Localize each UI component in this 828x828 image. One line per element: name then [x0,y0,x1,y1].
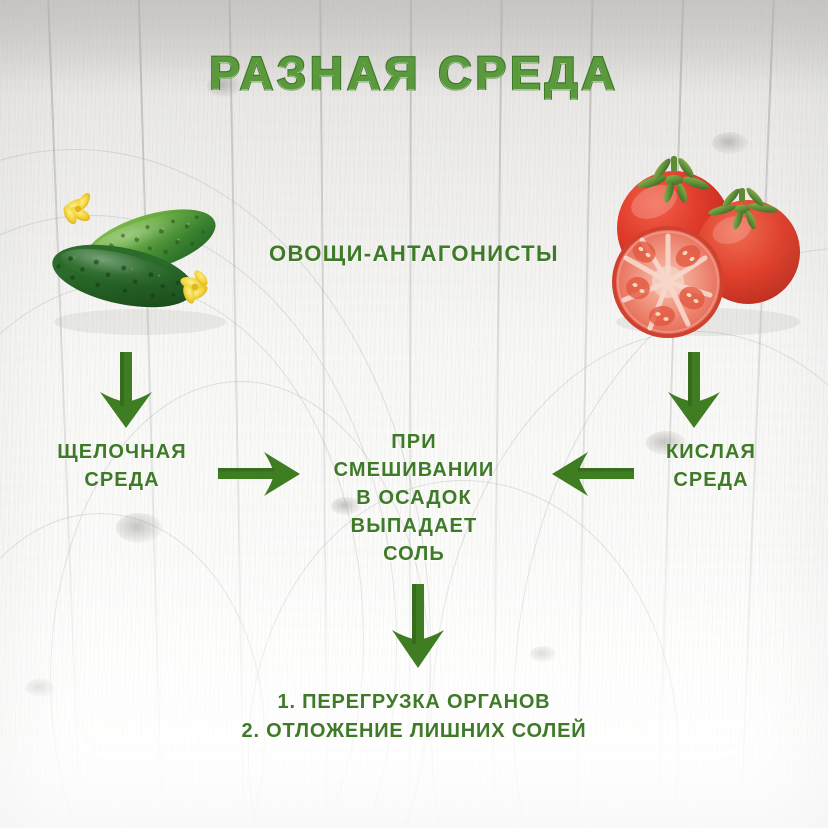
arrow-tomatoes-to-acidic [666,352,722,430]
arrow-center-to-outcomes [390,584,446,670]
outcome-item-2: 2. ОТЛОЖЕНИЕ ЛИШНИХ СОЛЕЙ [0,717,828,746]
center-line-4: ВЫПАДАЕТ [284,512,544,540]
center-line-3: В ОСАДОК [284,484,544,512]
label-alkaline-line-2: СРЕДА [22,466,222,494]
arrow-cucumbers-to-alkaline [98,352,154,430]
center-line-2: СМЕШИВАНИИ [284,456,544,484]
label-alkaline-line-1: ЩЕЛОЧНАЯ [22,438,222,466]
label-acidic-environment: КИСЛАЯ СРЕДА [616,438,806,495]
cucumber-flower-upper [61,191,93,226]
center-line-1: ПРИ [284,428,544,456]
outcomes-list: 1. ПЕРЕГРУЗКА ОРГАНОВ 2. ОТЛОЖЕНИЕ ЛИШНИ… [0,688,828,746]
outcome-item-1: 1. ПЕРЕГРУЗКА ОРГАНОВ [0,688,828,717]
center-line-5: СОЛЬ [284,540,544,568]
center-reaction-text: ПРИ СМЕШИВАНИИ В ОСАДОК ВЫПАДАЕТ СОЛЬ [284,428,544,568]
tomato-half-cut [614,228,722,336]
infographic-canvas: РАЗНАЯ СРЕДА ОВОЩИ-АНТАГОНИСТЫ [0,0,828,828]
cucumbers-image [28,172,248,342]
label-acidic-line-2: СРЕДА [616,466,806,494]
label-acidic-line-1: КИСЛАЯ [616,438,806,466]
page-title: РАЗНАЯ СРЕДА [0,46,828,100]
tomatoes-illustration [592,140,816,345]
tomatoes-image [592,140,816,345]
cucumbers-illustration [28,172,248,342]
label-alkaline-environment: ЩЕЛОЧНАЯ СРЕДА [22,438,222,495]
